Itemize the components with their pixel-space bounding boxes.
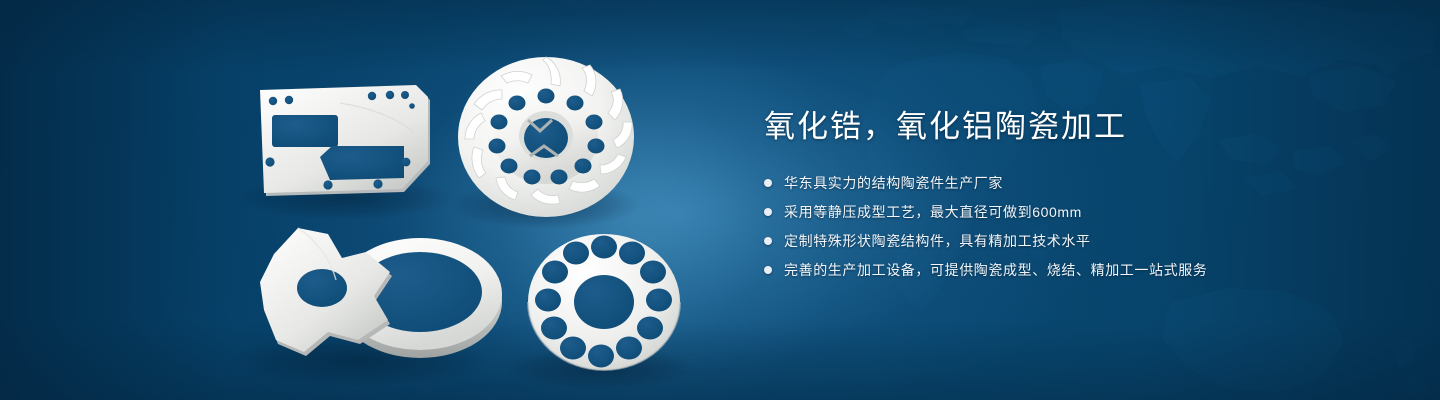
- bullet-dot-icon: [764, 237, 772, 245]
- list-item-label: 华东具实力的结构陶瓷件生产厂家: [784, 171, 1003, 195]
- list-item-label: 采用等静压成型工艺，最大直径可做到600mm: [784, 200, 1082, 224]
- bullet-dot-icon: [764, 179, 772, 187]
- list-item: 完善的生产加工设备，可提供陶瓷成型、烧结、精加工一站式服务: [764, 258, 1404, 282]
- list-item: 定制特殊形状陶瓷结构件，具有精加工技术水平: [764, 229, 1404, 253]
- ceramic-impeller-disc: [458, 57, 634, 217]
- list-item-label: 定制特殊形状陶瓷结构件，具有精加工技术水平: [784, 229, 1091, 253]
- ceramic-perforated-disc: [528, 234, 680, 370]
- feature-list: 华东具实力的结构陶瓷件生产厂家 采用等静压成型工艺，最大直径可做到600mm 定…: [764, 171, 1404, 282]
- banner-copy: 氧化锆，氧化铝陶瓷加工 华东具实力的结构陶瓷件生产厂家 采用等静压成型工艺，最大…: [764, 108, 1404, 287]
- list-item: 采用等静压成型工艺，最大直径可做到600mm: [764, 200, 1404, 224]
- ceramic-machined-plate: [260, 85, 430, 196]
- ceramic-products-image: [0, 0, 760, 400]
- list-item: 华东具实力的结构陶瓷件生产厂家: [764, 171, 1404, 195]
- list-item-label: 完善的生产加工设备，可提供陶瓷成型、烧结、精加工一站式服务: [784, 258, 1207, 282]
- page-title: 氧化锆，氧化铝陶瓷加工: [764, 108, 1404, 145]
- bullet-dot-icon: [764, 266, 772, 274]
- bullet-dot-icon: [764, 208, 772, 216]
- ceramic-product-banner: 氧化锆，氧化铝陶瓷加工 华东具实力的结构陶瓷件生产厂家 采用等静压成型工艺，最大…: [0, 0, 1440, 400]
